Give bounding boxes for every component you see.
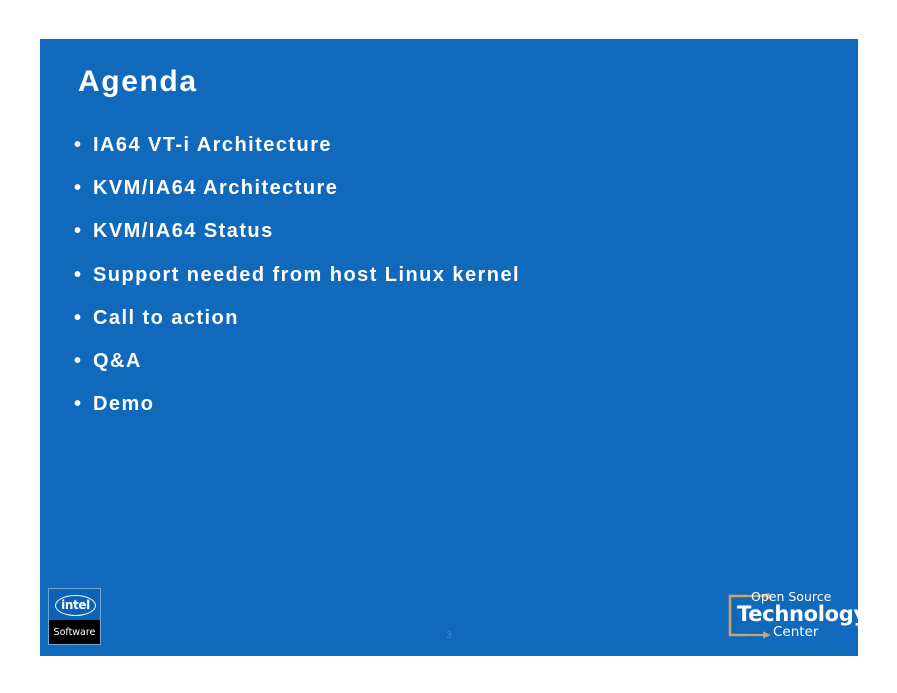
bullet-icon: • xyxy=(74,217,93,245)
list-item: • KVM/IA64 Status xyxy=(74,217,814,260)
list-item-label: Support needed from host Linux kernel xyxy=(93,261,814,289)
list-item: • IA64 VT-i Architecture xyxy=(74,131,814,174)
bullet-icon: • xyxy=(74,174,93,202)
list-item-label: KVM/IA64 Architecture xyxy=(93,174,814,202)
intel-software-bar: Software xyxy=(49,620,100,644)
slide-canvas-root: Agenda • IA64 VT-i Architecture • KVM/IA… xyxy=(0,0,897,693)
list-item-label: KVM/IA64 Status xyxy=(93,217,814,245)
list-item-label: IA64 VT-i Architecture xyxy=(93,131,814,159)
intel-software-logo: intel Software xyxy=(48,588,101,645)
open-source-technology-center-logo: Open Source Technology Center xyxy=(725,588,845,643)
bullet-icon: • xyxy=(74,347,93,375)
bullet-icon: • xyxy=(74,261,93,289)
intel-software-label: Software xyxy=(54,627,96,638)
agenda-bullet-list: • IA64 VT-i Architecture • KVM/IA64 Arch… xyxy=(74,131,814,433)
ostc-line-technology: Technology xyxy=(737,602,858,626)
bullet-icon: • xyxy=(74,131,93,159)
list-item: • Demo xyxy=(74,390,814,433)
intel-wordmark-label: intel xyxy=(49,589,102,621)
list-item: • Support needed from host Linux kernel xyxy=(74,261,814,304)
list-item-label: Call to action xyxy=(93,304,814,332)
page-title: Agenda xyxy=(78,64,198,100)
bullet-icon: • xyxy=(74,304,93,332)
presentation-slide: Agenda • IA64 VT-i Architecture • KVM/IA… xyxy=(40,39,858,656)
ostc-line-center: Center xyxy=(773,625,818,640)
bullet-icon: • xyxy=(74,390,93,418)
list-item: • KVM/IA64 Architecture xyxy=(74,174,814,217)
list-item-label: Demo xyxy=(93,390,814,418)
intel-logo-badge: intel xyxy=(49,589,100,621)
list-item: • Q&A xyxy=(74,347,814,390)
list-item: • Call to action xyxy=(74,304,814,347)
list-item-label: Q&A xyxy=(93,347,814,375)
